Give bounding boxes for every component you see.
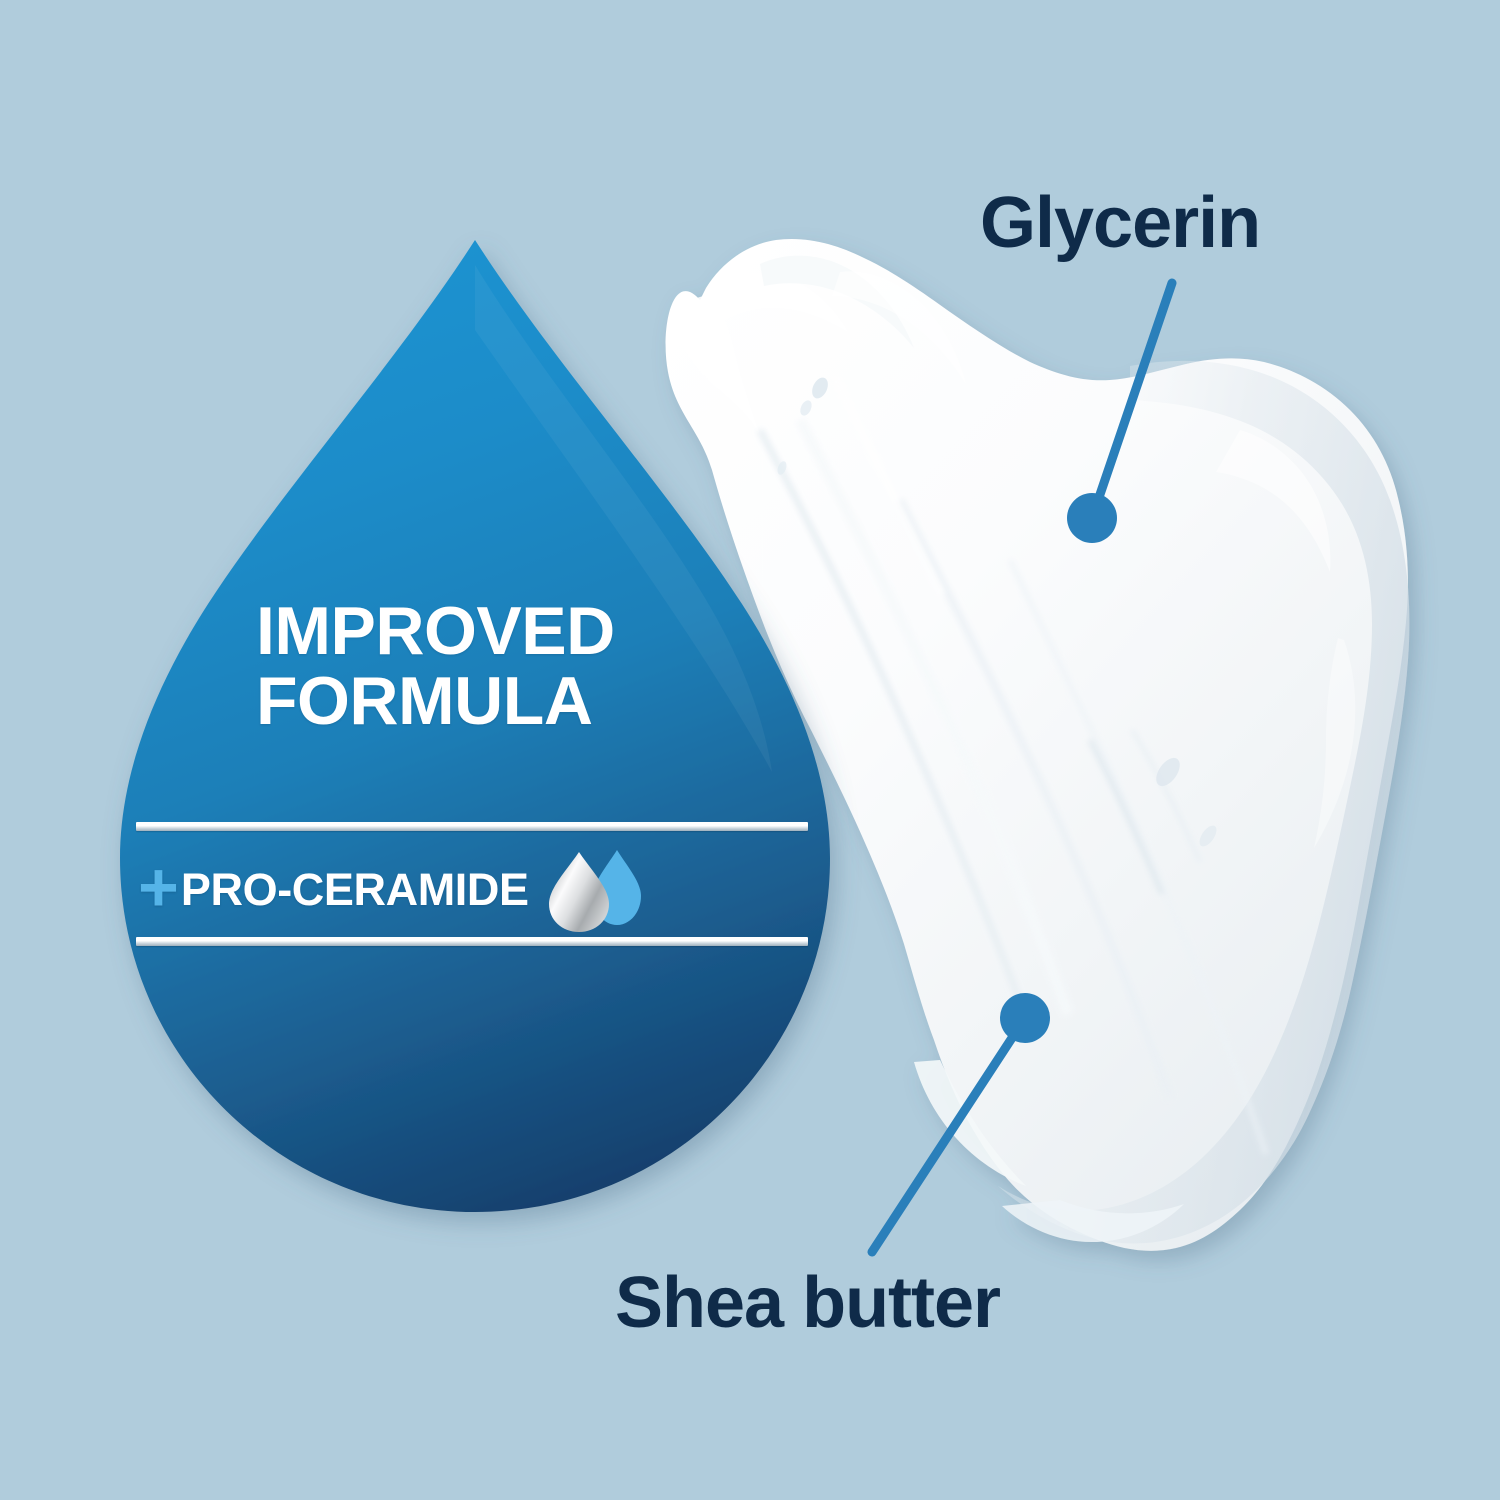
- pro-ceramide-label: PRO-CERAMIDE: [181, 864, 529, 916]
- badge-headline: IMPROVED FORMULA: [256, 596, 816, 736]
- ceramide-droplet-icon: [541, 846, 647, 937]
- pro-ceramide-row: + PRO-CERAMIDE: [138, 850, 818, 930]
- shea-butter-marker-dot: [1000, 993, 1050, 1043]
- badge-content: IMPROVED FORMULA + PRO-CERAMIDE: [256, 596, 816, 736]
- glycerin-marker-dot: [1067, 493, 1117, 543]
- headline-line-1: IMPROVED: [256, 593, 615, 669]
- shea-butter-label: Shea butter: [615, 1262, 1000, 1344]
- headline-line-2: FORMULA: [256, 666, 816, 736]
- product-ingredient-infographic: IMPROVED FORMULA + PRO-CERAMIDE Glycerin…: [0, 0, 1500, 1500]
- divider-top: [136, 822, 808, 831]
- silver-droplet-shape: [549, 852, 609, 932]
- divider-bottom: [136, 937, 808, 946]
- glycerin-label: Glycerin: [980, 182, 1260, 264]
- plus-icon: +: [138, 852, 179, 922]
